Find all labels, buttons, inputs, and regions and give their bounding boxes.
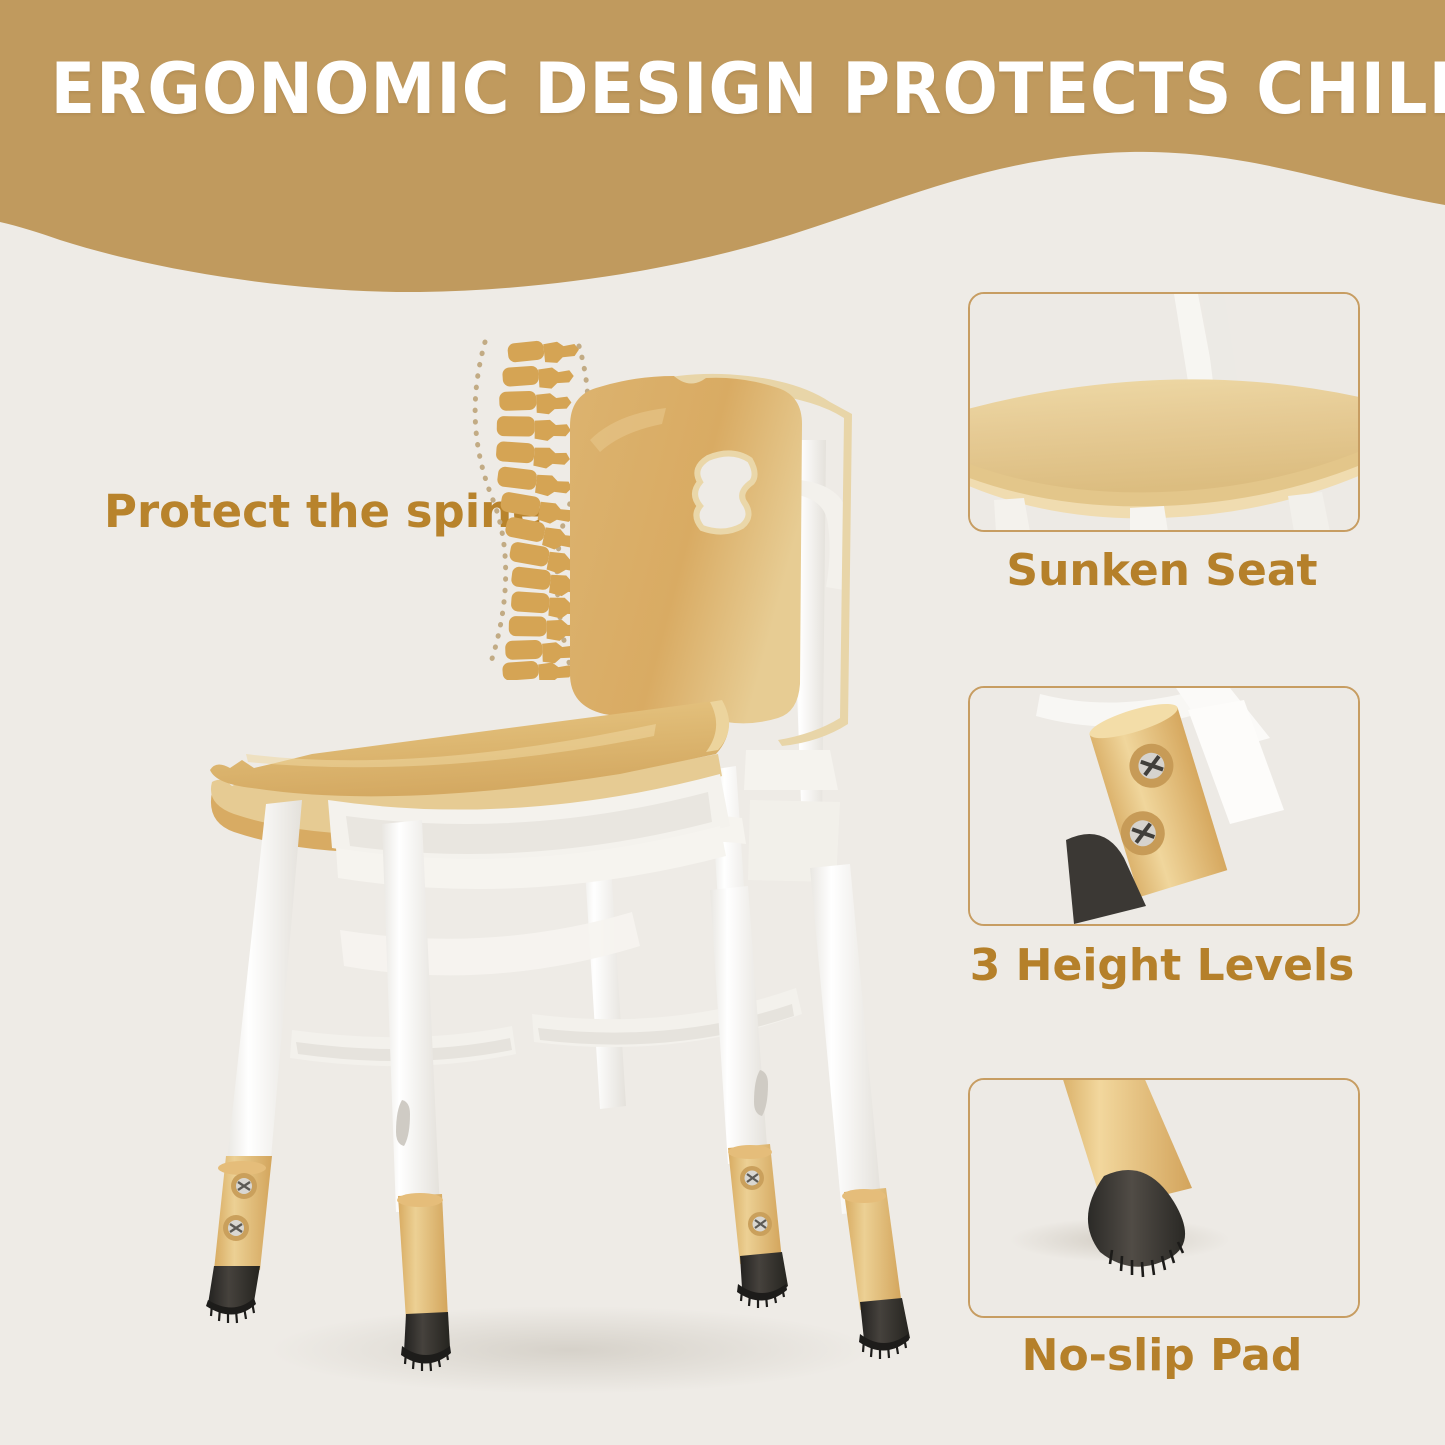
kids-chair-illustration bbox=[150, 330, 950, 1410]
leg-adjustment-slots bbox=[396, 1070, 768, 1146]
chair-front-left-leg bbox=[382, 820, 451, 1371]
height-levels-photo bbox=[970, 688, 1358, 924]
chair-front-right-leg bbox=[810, 864, 910, 1359]
height-screw bbox=[223, 1215, 249, 1241]
chair-rear-right-leg bbox=[710, 886, 788, 1308]
caption-no-slip-pad: No-slip Pad bbox=[952, 1330, 1372, 1381]
height-screw bbox=[740, 1166, 764, 1190]
caption-height-levels: 3 Height Levels bbox=[952, 940, 1372, 991]
no-slip-pad-photo bbox=[970, 1080, 1358, 1316]
height-screw bbox=[231, 1173, 257, 1199]
chair-rear-left-leg bbox=[206, 800, 302, 1323]
feature-panel-no-slip-pad[interactable] bbox=[968, 1078, 1360, 1318]
feature-panel-sunken-seat[interactable] bbox=[968, 292, 1360, 532]
caption-sunken-seat: Sunken Seat bbox=[952, 545, 1372, 596]
page-title: ERGONOMIC DESIGN PROTECTS CHILDREN bbox=[51, 48, 1395, 130]
feature-panel-height-levels[interactable] bbox=[968, 686, 1360, 926]
header-banner bbox=[0, 0, 1445, 300]
infographic-canvas: ERGONOMIC DESIGN PROTECTS CHILDREN Prote… bbox=[0, 0, 1445, 1445]
sunken-seat-photo bbox=[970, 294, 1358, 530]
height-screw bbox=[748, 1212, 772, 1236]
